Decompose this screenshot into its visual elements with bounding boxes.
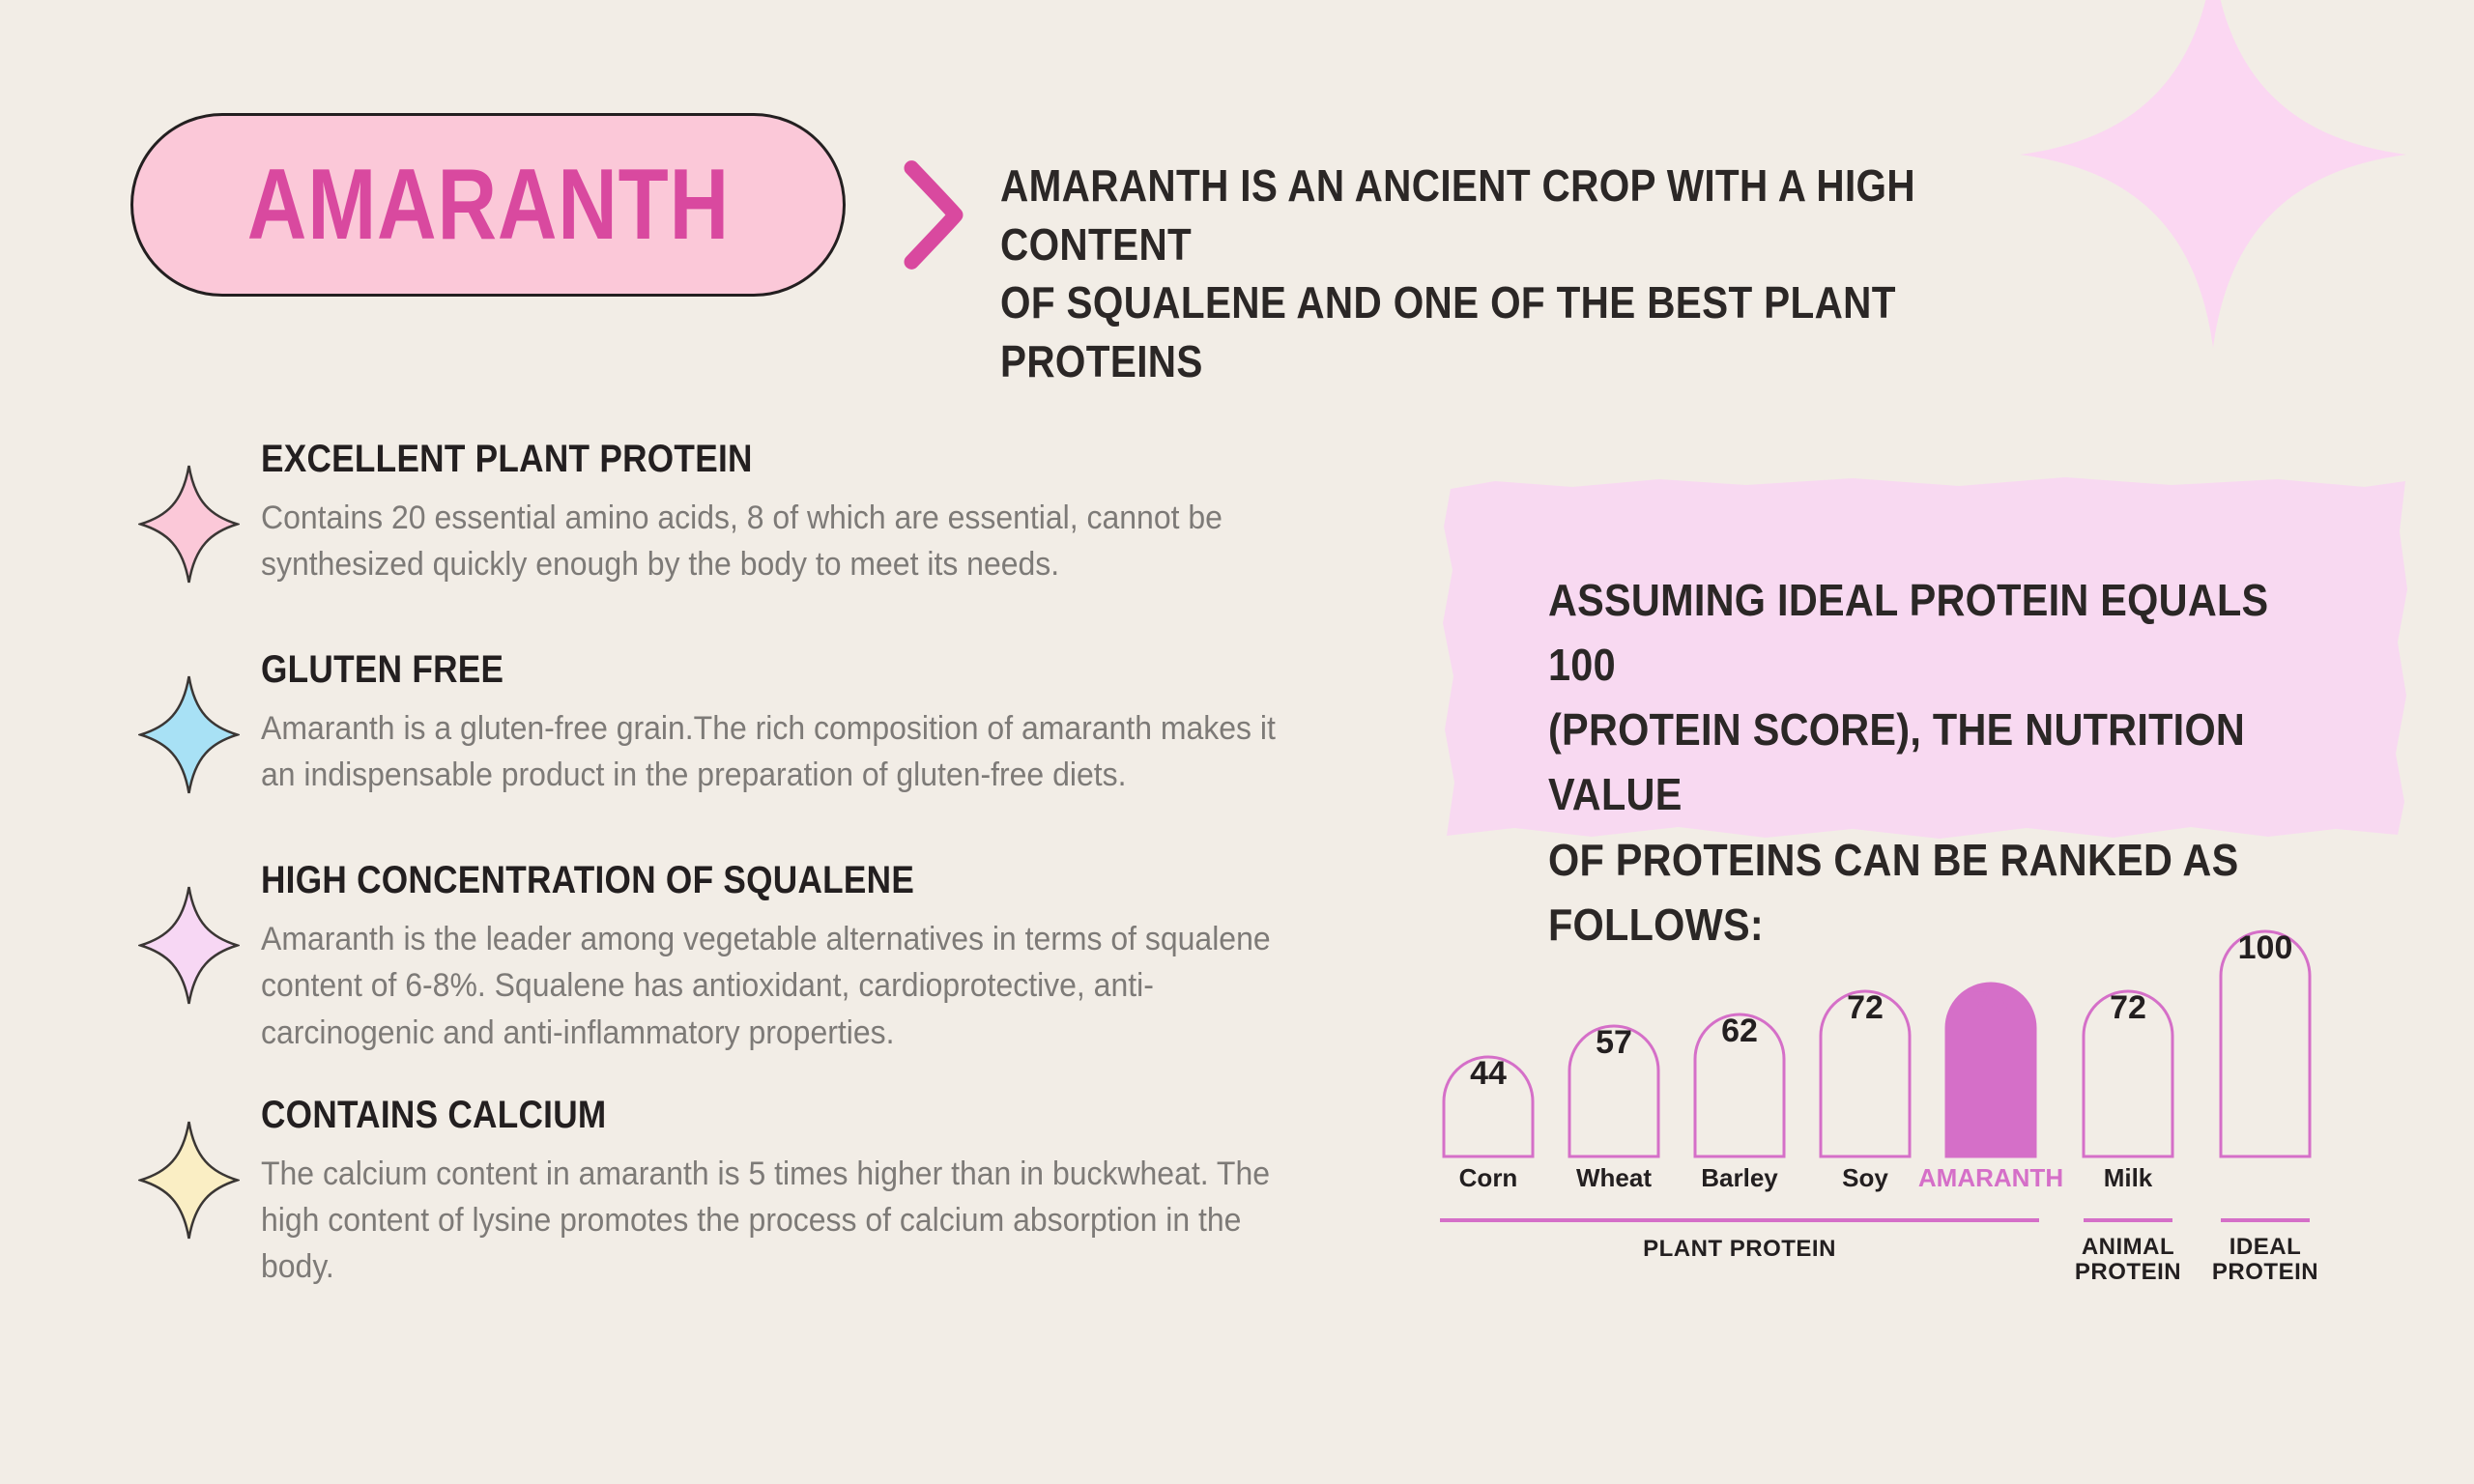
chart-bar-amaranth: 75 AMARANTH (1918, 982, 2063, 1192)
feature-text: Contains 20 essential amino acids, 8 of … (261, 495, 1306, 588)
bar-value-label: 44 (1470, 1055, 1507, 1092)
bar-value-label: 57 (1596, 1024, 1632, 1061)
feature-title: CONTAINS CALCIUM (261, 1095, 1239, 1135)
bar-category-label: Barley (1701, 1163, 1778, 1192)
feature-text: The calcium content in amaranth is 5 tim… (261, 1151, 1306, 1291)
chart-svg: 44 Corn 57 Wheat 62 Barley 72 Soy (1430, 870, 2455, 1333)
feature-list: EXCELLENT PLANT PROTEIN Contains 20 esse… (116, 437, 1372, 1327)
feature-icon-wrap (116, 437, 261, 585)
bar-category-label: Milk (2104, 1163, 2153, 1192)
feature-text: Amaranth is the leader among vegetable a… (261, 916, 1306, 1056)
bar-value-label: 75 (1972, 982, 2009, 1018)
four-point-star-icon (138, 885, 240, 1006)
feature-title: GLUTEN FREE (261, 649, 1239, 690)
four-point-star-icon (2020, 0, 2406, 348)
four-point-star-icon (138, 674, 240, 795)
four-point-star-icon (138, 464, 240, 585)
feature-body: HIGH CONCENTRATION OF SQUALENE Amaranth … (261, 858, 1372, 1056)
title-pill: AMARANTH (130, 113, 846, 297)
feature-body: EXCELLENT PLANT PROTEIN Contains 20 esse… (261, 437, 1372, 588)
chart-bar-ideal: 100 (2221, 929, 2310, 1156)
bar-category-label: Soy (1842, 1163, 1888, 1192)
chevron-right-icon (904, 159, 964, 271)
banner-line-2: (PROTEIN SCORE), THE NUTRITION VALUE (1548, 698, 2279, 827)
bar-category-label: AMARANTH (1918, 1163, 2063, 1192)
feature-body: GLUTEN FREE Amaranth is a gluten-free gr… (261, 647, 1372, 799)
group-label-ideal-protein-line1: IDEAL (2229, 1234, 2302, 1260)
bar-value-label: 100 (2238, 929, 2293, 966)
feature-icon-wrap (116, 647, 261, 795)
bar-value-label: 72 (1847, 989, 1884, 1026)
feature-item: GLUTEN FREE Amaranth is a gluten-free gr… (116, 647, 1372, 821)
tagline-line-1: AMARANTH IS AN ANCIENT CROP WITH A HIGH … (1000, 157, 1936, 273)
feature-text: Amaranth is a gluten-free grain.The rich… (261, 705, 1306, 799)
banner-line-1: ASSUMING IDEAL PROTEIN EQUALS 100 (1548, 568, 2279, 698)
bar-category-label: Corn (1459, 1163, 1518, 1192)
chart-bar-milk: 72 Milk (2084, 989, 2172, 1192)
group-label-ideal-protein-line2: PROTEIN (2212, 1259, 2318, 1285)
page-title: AMARANTH (246, 155, 729, 255)
callout-banner: ASSUMING IDEAL PROTEIN EQUALS 100 (PROTE… (1437, 473, 2413, 842)
bar-value-label: 72 (2110, 989, 2146, 1026)
header-tagline: AMARANTH IS AN ANCIENT CROP WITH A HIGH … (1000, 157, 2063, 391)
feature-title: HIGH CONCENTRATION OF SQUALENE (261, 860, 1239, 900)
feature-icon-wrap (116, 1093, 261, 1241)
group-label-plant-protein: PLANT PROTEIN (1643, 1236, 1836, 1262)
group-label-animal-protein-line2: PROTEIN (2075, 1259, 2181, 1285)
feature-body: CONTAINS CALCIUM The calcium content in … (261, 1093, 1372, 1291)
chart-bar-barley: 62 Barley (1695, 1013, 1784, 1192)
feature-item: CONTAINS CALCIUM The calcium content in … (116, 1093, 1372, 1291)
four-point-star-icon (138, 1120, 240, 1241)
chart-bar-soy: 72 Soy (1821, 989, 1910, 1192)
tagline-line-2: OF SQUALENE AND ONE OF THE BEST PLANT PR… (1000, 273, 1936, 390)
group-label-animal-protein-line1: ANIMAL (2082, 1234, 2174, 1260)
chart-bar-wheat: 57 Wheat (1569, 1024, 1658, 1192)
infographic-page: AMARANTH AMARANTH IS AN ANCIENT CROP WIT… (0, 0, 2474, 1484)
feature-title: EXCELLENT PLANT PROTEIN (261, 439, 1239, 479)
feature-icon-wrap (116, 858, 261, 1006)
protein-score-chart: 44 Corn 57 Wheat 62 Barley 72 Soy (1430, 870, 2455, 1333)
chart-bar-corn: 44 Corn (1444, 1055, 1533, 1192)
bar-category-label: Wheat (1576, 1163, 1652, 1192)
bar-value-label: 62 (1721, 1013, 1758, 1049)
feature-item: HIGH CONCENTRATION OF SQUALENE Amaranth … (116, 858, 1372, 1056)
feature-item: EXCELLENT PLANT PROTEIN Contains 20 esse… (116, 437, 1372, 611)
